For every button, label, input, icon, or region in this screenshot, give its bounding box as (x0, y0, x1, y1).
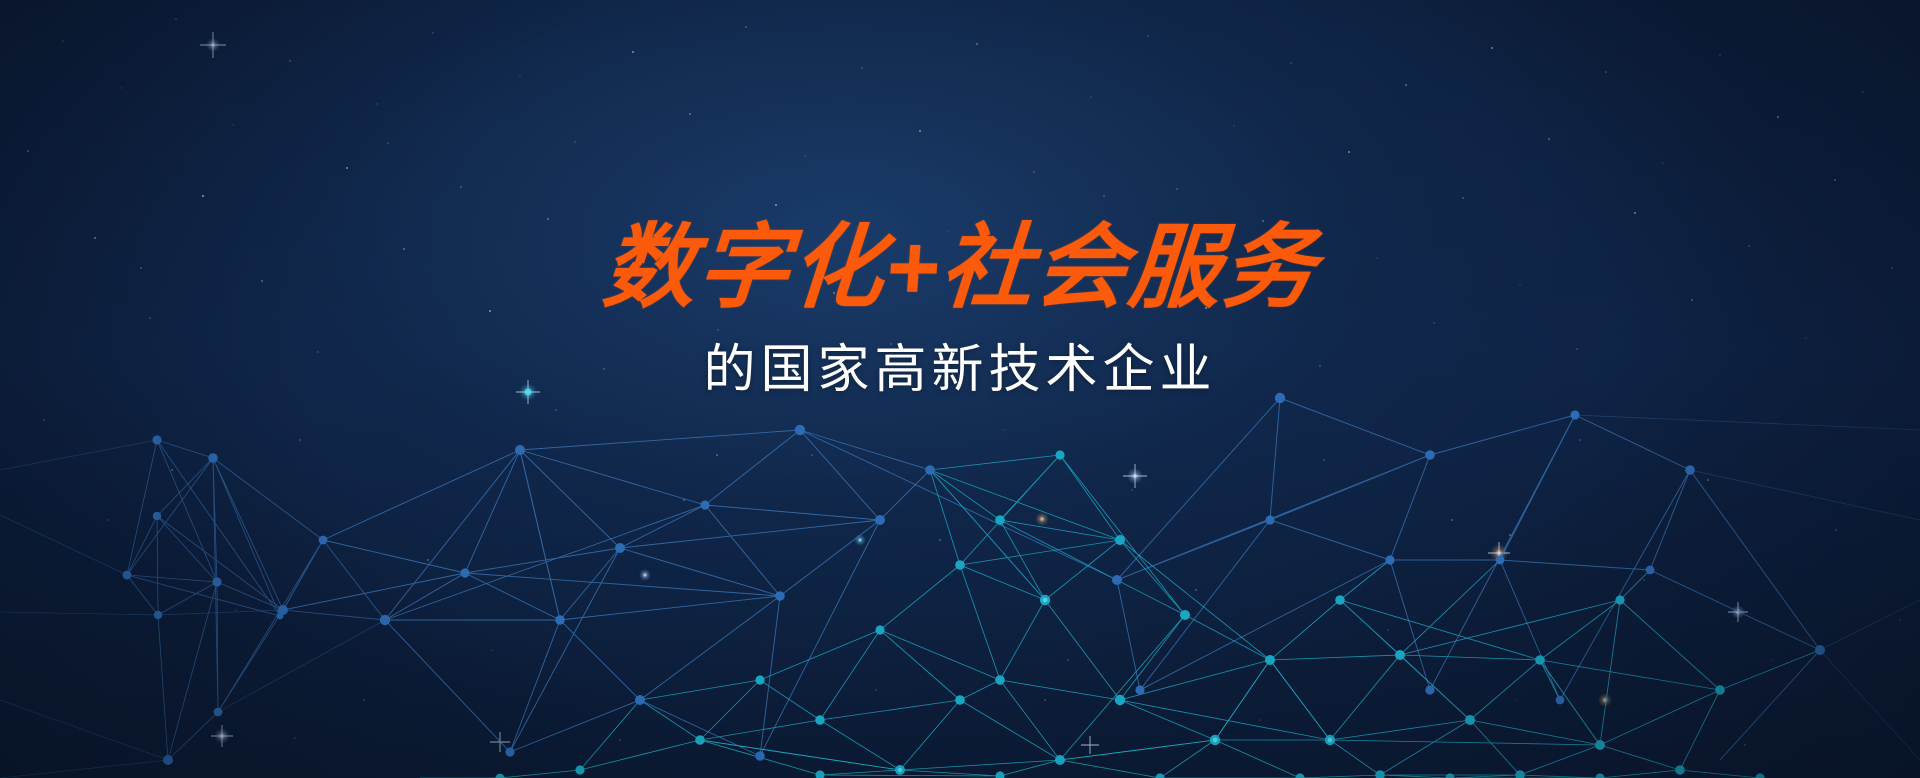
mesh-edges-upper-right (800, 398, 1820, 760)
mesh-edges-midleft (283, 430, 930, 756)
mesh-nodes-blue (123, 393, 1825, 765)
mesh-edges-bottom-band (420, 740, 1760, 778)
hero-banner: 数字化+社会服务 的国家高新技术企业 (0, 0, 1920, 778)
network-mesh-graphic (0, 0, 1920, 778)
mesh-edges-left (127, 440, 385, 760)
mesh-edges-right-dense (1215, 560, 1820, 775)
mesh-edges-center-dense (580, 455, 1330, 770)
mesh-node-highlights (524, 388, 1332, 772)
mesh-edges-right-thin (1575, 415, 1920, 760)
